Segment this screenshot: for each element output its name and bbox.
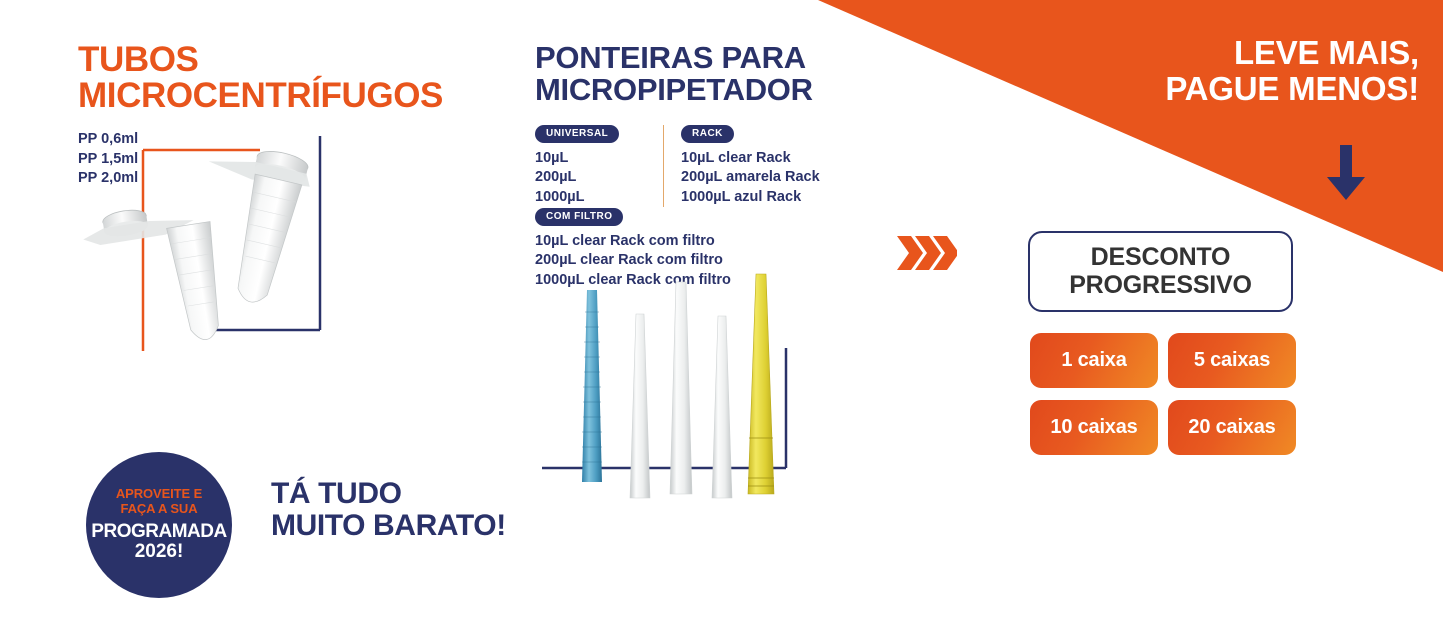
universal-item: 200µL [535, 168, 663, 187]
tubos-heading-line2: MICROCENTRÍFUGOS [78, 76, 443, 115]
badge-main-text: PROGRAMADA [91, 522, 226, 543]
ponteiras-heading-line2: MICROPIPETADOR [535, 72, 813, 107]
promo-headline: LEVE MAIS, PAGUE MENOS! [1165, 35, 1419, 106]
badge-universal: UNIVERSAL [535, 125, 619, 143]
desconto-card-text: DESCONTO PROGRESSIVO [1069, 244, 1252, 299]
badge-com-filtro: COM FILTRO [535, 208, 623, 226]
rack-item: 200µL amarela Rack [681, 168, 820, 187]
com-filtro-item: 200µL clear Rack com filtro [535, 251, 731, 270]
badge-year-text: 2026! [135, 542, 184, 563]
badge-top-line1: APROVEITE E [116, 486, 202, 501]
pipette-tips-photo [540, 272, 830, 500]
ponteiras-columns: UNIVERSAL 10µL 200µL 1000µL RACK 10µL cl… [535, 123, 820, 207]
headline-line1: LEVE MAIS, [1234, 34, 1419, 71]
tubos-heading-line1: TUBOS [78, 40, 199, 79]
tagline-line1: TÁ TUDO [271, 477, 402, 510]
ponteiras-heading: PONTEIRAS PARA MICROPIPETADOR [535, 42, 865, 106]
tagline-ta-tudo-muito-barato: TÁ TUDO MUITO BARATO! [271, 478, 506, 542]
quantity-box-10-caixas[interactable]: 10 caixas [1030, 400, 1158, 455]
tubos-heading: TUBOS MICROCENTRÍFUGOS [78, 42, 508, 113]
universal-item: 1000µL [535, 188, 663, 207]
badge-top-text: APROVEITE E FAÇA A SUA [116, 487, 202, 517]
rack-item: 1000µL azul Rack [681, 188, 820, 207]
ponteiras-group-rack: RACK 10µL clear Rack 200µL amarela Rack … [681, 123, 820, 207]
badge-rack: RACK [681, 125, 734, 143]
programada-2026-badge: APROVEITE E FAÇA A SUA PROGRAMADA 2026! [86, 452, 232, 598]
headline-line2: PAGUE MENOS! [1165, 70, 1419, 107]
badge-top-line2: FAÇA A SUA [120, 501, 197, 516]
microcentrifuge-tubes-photo [75, 118, 355, 368]
ponteiras-heading-line1: PONTEIRAS PARA [535, 40, 806, 75]
chevrons-right-icon [895, 232, 957, 274]
rack-item-list: 10µL clear Rack 200µL amarela Rack 1000µ… [681, 149, 820, 207]
quantity-box-grid: 1 caixa 5 caixas 10 caixas 20 caixas [1030, 333, 1296, 455]
quantity-box-1-caixa[interactable]: 1 caixa [1030, 333, 1158, 388]
tagline-line2: MUITO BARATO! [271, 509, 506, 542]
universal-item: 10µL [535, 149, 663, 168]
desconto-line1: DESCONTO [1091, 243, 1231, 271]
desconto-line2: PROGRESSIVO [1069, 271, 1252, 299]
column-divider [663, 125, 664, 207]
rack-item: 10µL clear Rack [681, 149, 820, 168]
section-ponteiras-micropipetador: PONTEIRAS PARA MICROPIPETADOR [535, 42, 865, 106]
desconto-progressivo-card: DESCONTO PROGRESSIVO [1028, 231, 1293, 312]
quantity-box-5-caixas[interactable]: 5 caixas [1168, 333, 1296, 388]
com-filtro-item: 10µL clear Rack com filtro [535, 232, 731, 251]
ponteiras-group-universal: UNIVERSAL 10µL 200µL 1000µL [535, 123, 663, 207]
quantity-box-20-caixas[interactable]: 20 caixas [1168, 400, 1296, 455]
universal-item-list: 10µL 200µL 1000µL [535, 149, 663, 207]
arrow-down-icon [1322, 143, 1370, 203]
